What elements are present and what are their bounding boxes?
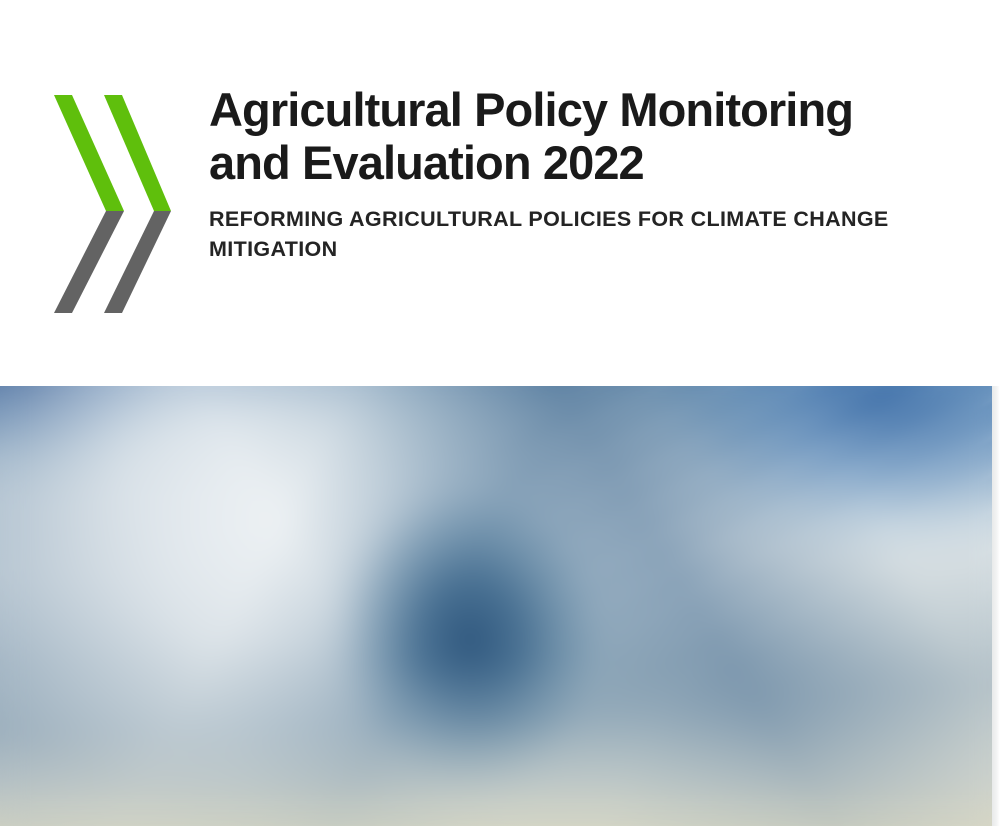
publication-subtitle: REFORMING AGRICULTURAL POLICIES FOR CLIM… bbox=[209, 204, 939, 264]
publication-cover: Agricultural Policy Monitoring and Evalu… bbox=[0, 0, 1000, 826]
publication-title-line-1: Agricultural Policy Monitoring bbox=[209, 83, 969, 136]
sky-photograph bbox=[0, 340, 1000, 826]
title-block: Agricultural Policy Monitoring and Evalu… bbox=[209, 83, 969, 264]
right-margin-strip bbox=[992, 386, 1000, 826]
oecd-logo bbox=[46, 93, 171, 315]
publication-title-line-2: and Evaluation 2022 bbox=[209, 136, 969, 189]
photo-blur-overlay bbox=[0, 340, 1000, 826]
cover-image bbox=[0, 340, 1000, 826]
